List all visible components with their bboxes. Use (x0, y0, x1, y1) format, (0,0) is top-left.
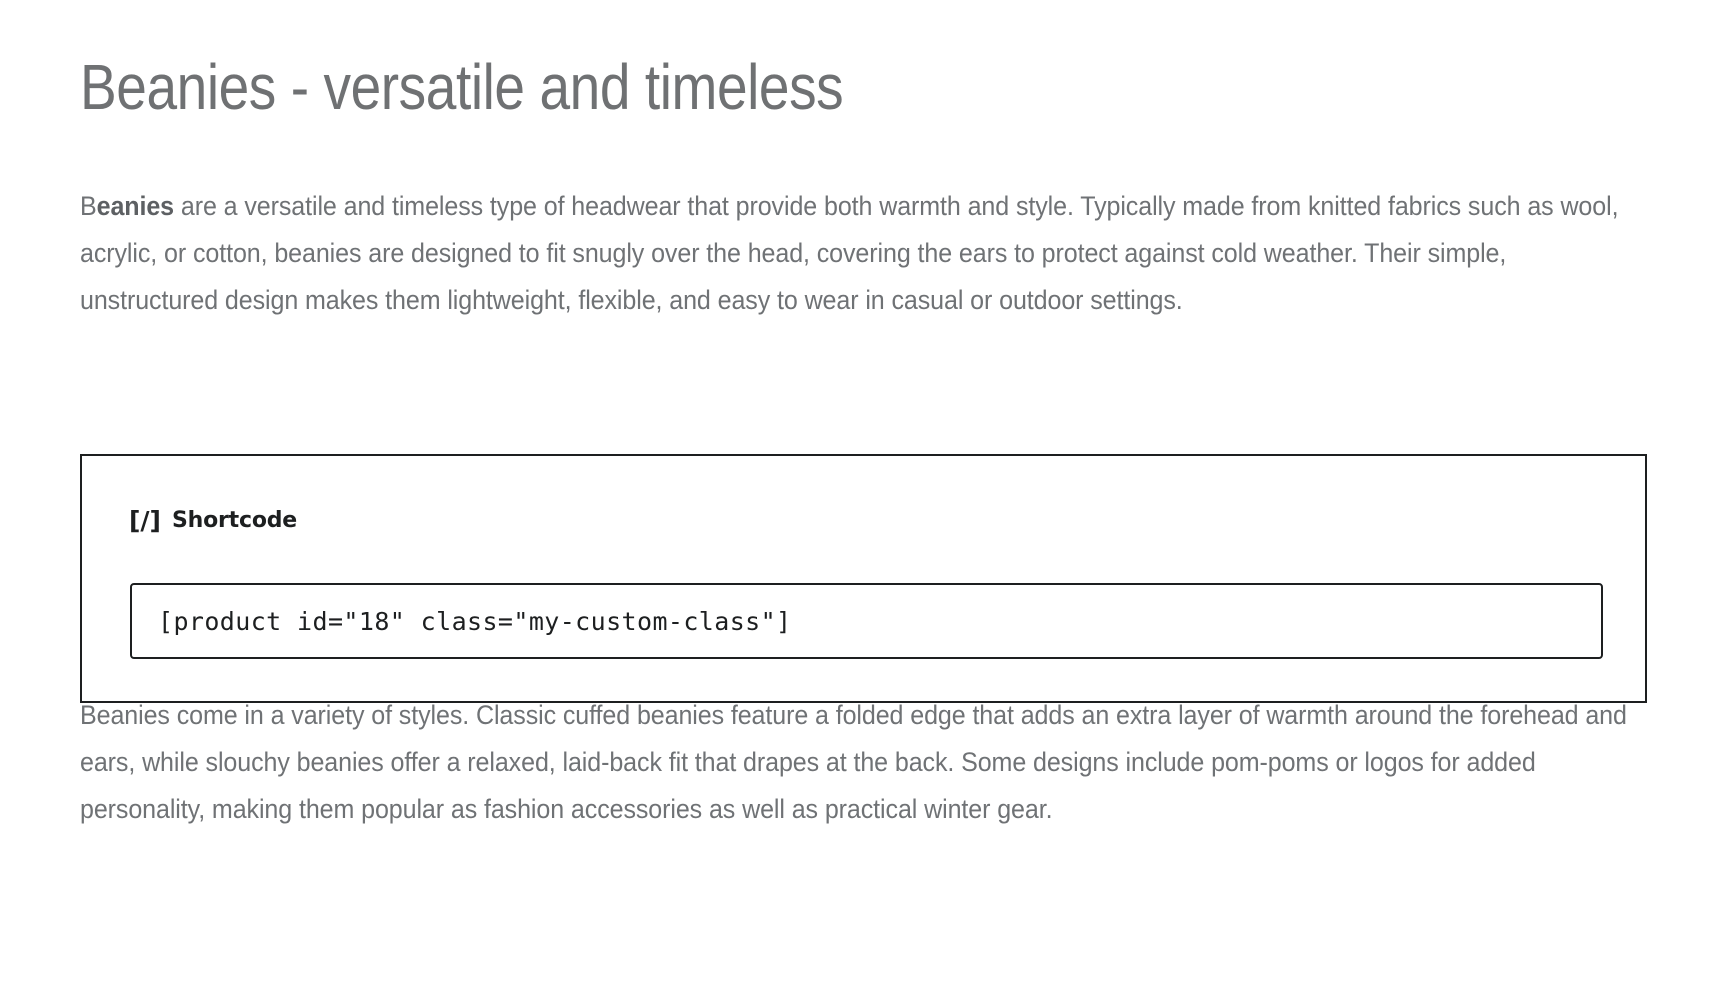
shortcode-bracket-icon: [/] (129, 508, 161, 533)
intro-lead-bold: eanies (97, 191, 174, 221)
page-title: Beanies - versatile and timeless (80, 0, 1432, 119)
intro-lead-char: B (80, 191, 97, 221)
intro-paragraph-body: are a versatile and timeless type of hea… (80, 191, 1618, 315)
intro-paragraph: Beanies are a versatile and timeless typ… (80, 183, 1644, 324)
page-root: Beanies - versatile and timeless Beanies… (0, 0, 1732, 1006)
shortcode-label: Shortcode (172, 510, 297, 532)
shortcode-header: [/] Shortcode (82, 456, 1645, 533)
closing-paragraph: Beanies come in a variety of styles. Cla… (80, 692, 1644, 833)
shortcode-panel: [/] Shortcode (80, 454, 1647, 703)
shortcode-input[interactable] (130, 583, 1603, 659)
content-column: Beanies - versatile and timeless Beanies… (80, 0, 1652, 119)
